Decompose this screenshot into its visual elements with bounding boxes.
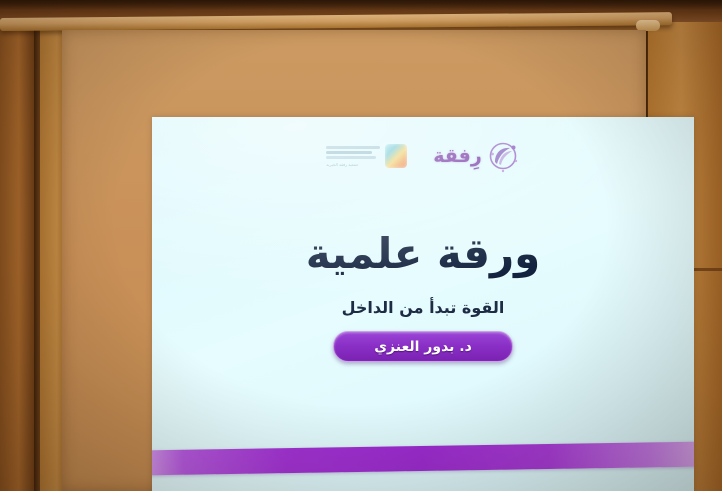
partner-text-line-3 [326, 156, 376, 159]
partner-logo-text: جمعية رفقة الخيرية [326, 146, 380, 167]
presentation-slide: رِفقة جمعية رفقة الخيرية ورقة علمية [152, 117, 694, 491]
slide-bottom-band [152, 442, 694, 476]
slide-logo-row: رِفقة جمعية رفقة الخيرية [152, 139, 694, 173]
brand-logo-word: رِفقة [433, 147, 482, 166]
partner-logo: جمعية رفقة الخيرية [326, 144, 407, 168]
brand-logo: رِفقة [433, 139, 520, 173]
wall-panel-left-outer [0, 0, 34, 491]
projection-screen-frame: رِفقة جمعية رفقة الخيرية ورقة علمية [62, 30, 646, 491]
partner-emblem-icon [385, 144, 407, 168]
slide-subtitle: القوة تبدأ من الداخل [152, 298, 694, 317]
partner-text-line-1 [326, 146, 380, 149]
partner-text-line-2 [326, 151, 372, 154]
partner-logo-caption: جمعية رفقة الخيرية [326, 162, 358, 167]
projection-screen-surface: رِفقة جمعية رفقة الخيرية ورقة علمية [152, 117, 694, 491]
slide-title: ورقة علمية [152, 229, 694, 278]
presenter-name-badge: د. بدور العنزي [333, 331, 513, 362]
rifqa-swirl-logo-icon [486, 139, 520, 173]
photo-scene: رِفقة جمعية رفقة الخيرية ورقة علمية [0, 0, 722, 491]
